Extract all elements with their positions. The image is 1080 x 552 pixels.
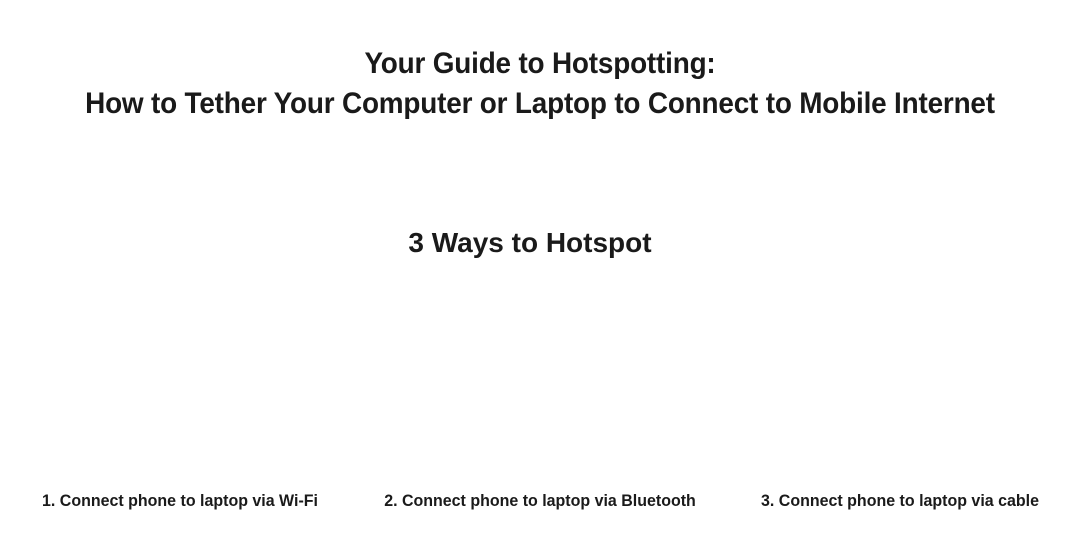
method-caption-cable: 3. Connect phone to laptop via cable <box>731 489 1069 513</box>
section-heading-label: 3 Ways to Hotspot <box>408 224 671 262</box>
page-title: Your Guide to Hotspotting: How to Tether… <box>0 44 1080 124</box>
page-title-line-2: How to Tether Your Computer or Laptop to… <box>38 84 1042 124</box>
illustration-slot-wifi <box>0 276 360 480</box>
page-title-line-1: Your Guide to Hotspotting: <box>38 44 1042 84</box>
illustration-slot-cable <box>720 276 1080 480</box>
illustration-slot-bluetooth <box>360 276 720 480</box>
section-heading: 3 Ways to Hotspot <box>0 224 1080 262</box>
illustration-region <box>0 276 1080 480</box>
article-page: Your Guide to Hotspotting: How to Tether… <box>0 0 1080 552</box>
method-caption-row: 1. Connect phone to laptop via Wi-Fi 2. … <box>0 485 1080 517</box>
method-caption-bluetooth: 2. Connect phone to laptop via Bluetooth <box>371 489 709 513</box>
method-caption-wifi: 1. Connect phone to laptop via Wi-Fi <box>11 489 349 513</box>
